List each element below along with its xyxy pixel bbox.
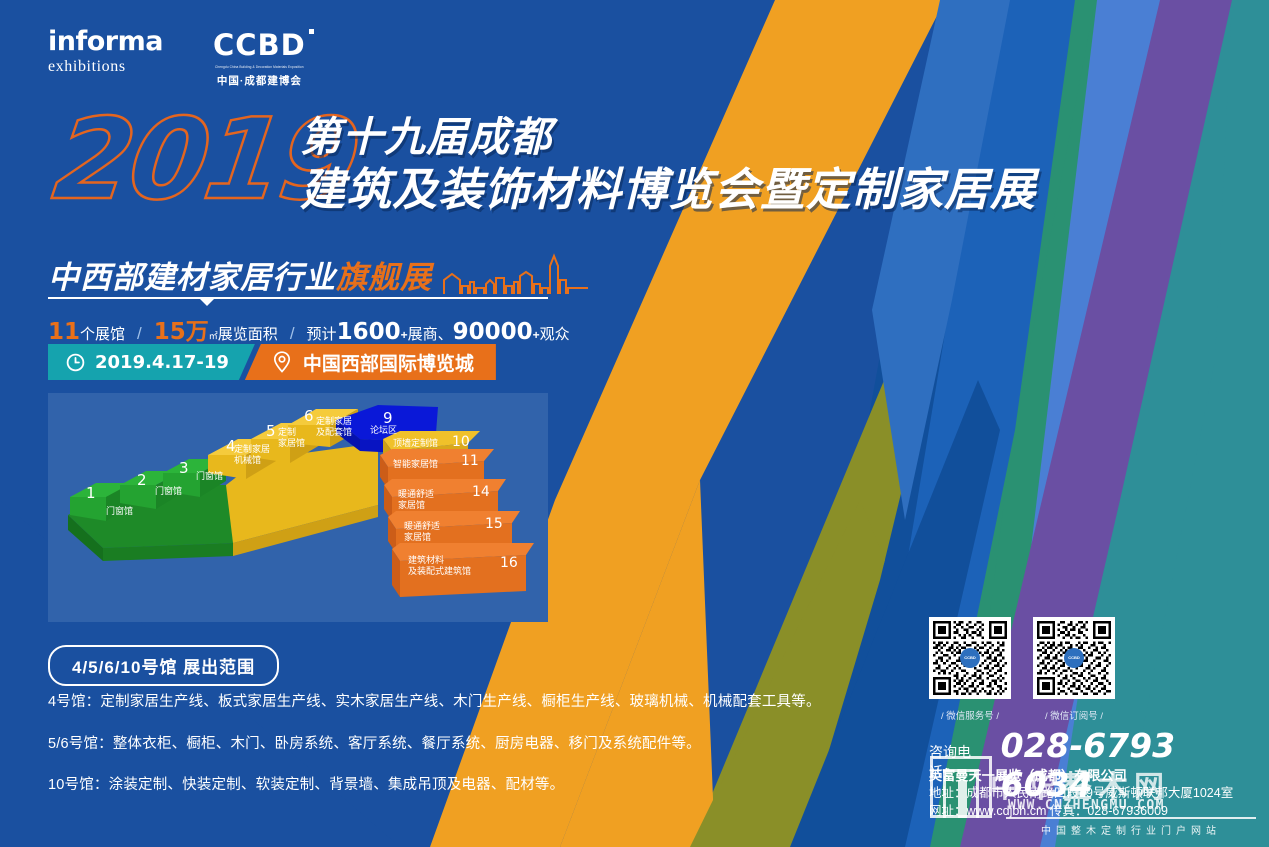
location-pin-icon xyxy=(273,351,291,373)
hall-number-5: 5 xyxy=(266,422,276,440)
stat-exhibitor-sup: + xyxy=(401,328,408,342)
hall-name-4b: 机械馆 xyxy=(234,454,261,466)
ccbd-english: Chengdu China Building & Decoration Mate… xyxy=(213,65,306,70)
hall-name-14b: 家居馆 xyxy=(398,499,425,511)
qr-service-account[interactable]: CCBD xyxy=(929,617,1011,699)
website-line: 网址：www.cdjbh.cm 传真：028-67936009 xyxy=(929,802,1233,820)
qr-captions: / 微信服务号 / / 微信订阅号 / xyxy=(929,708,1115,722)
slogan-white: 中西部建材家居行业 xyxy=(48,252,336,297)
hall-name-15b: 家居馆 xyxy=(404,531,431,543)
stat-visitor-sup: + xyxy=(533,328,540,342)
hall-name-6b: 及配套馆 xyxy=(316,426,352,438)
informa-wordmark: informa xyxy=(48,28,163,55)
hall-name-5b: 家居馆 xyxy=(278,437,305,449)
hall-number-6: 6 xyxy=(304,407,314,425)
venue-text: 中国西部国际博览城 xyxy=(303,349,474,376)
slogan-orange: 旗舰展 xyxy=(336,252,432,297)
stat-halls-unit: 个展馆 xyxy=(80,323,125,344)
stat-area-unit: 展览面积 xyxy=(218,323,278,344)
hall-number-16: 16 xyxy=(500,555,518,571)
stat-exhibitor-unit: 展商、 xyxy=(408,323,453,344)
ccbd-logo: CCBD Chengdu China Building & Decoration… xyxy=(213,28,306,88)
hall-name-11: 智能家居馆 xyxy=(393,458,438,470)
ccbd-dot-icon xyxy=(309,29,314,34)
informa-logo: informa exhibitions xyxy=(48,28,163,75)
date-badge: 2019.4.17-19 xyxy=(48,344,255,380)
address-block: 地址：成都市人民南路四段19号威斯顿联邦大厦1024室 网址：www.cdjbh… xyxy=(929,784,1233,820)
slogan: 中西部建材家居行业 旗舰展 xyxy=(48,252,592,297)
stat-visitor-number: 90000 xyxy=(453,319,533,345)
stat-separator-2: / xyxy=(290,324,295,344)
slogan-divider xyxy=(48,297,548,299)
ccbd-chinese: 中国·成都建博会 xyxy=(213,73,306,88)
venue-badge: 中国西部国际博览城 xyxy=(245,344,496,380)
skyline-icon xyxy=(442,252,592,296)
scope-lines: 4号馆：定制家居生产线、板式家居生产线、实木家居生产线、木门生产线、橱柜生产线、… xyxy=(48,695,821,820)
hall-number-3: 3 xyxy=(179,459,189,477)
hall-name-15: 暖通舒适 xyxy=(404,520,440,532)
qr-service-logo: CCBD xyxy=(960,648,980,668)
qr-service-caption: / 微信服务号 / xyxy=(929,708,1011,722)
hall-name-10: 顶墙定制馆 xyxy=(393,437,438,449)
hall-name-5: 定制 xyxy=(278,426,296,438)
qr-codes: CCBD xyxy=(929,617,1115,699)
hall-name-2: 门窗馆 xyxy=(155,485,182,497)
ccbd-wordmark: CCBD xyxy=(213,28,306,62)
informa-subtitle: exhibitions xyxy=(48,59,163,75)
qr-subscribe-account[interactable]: CCBD xyxy=(1033,617,1115,699)
scope-line-hall10: 10号馆：涂装定制、快装定制、软装定制、背景墙、集成吊顶及电器、配材等。 xyxy=(48,778,821,793)
hall-number-14: 14 xyxy=(472,484,490,500)
stat-exhibitor-number: 1600 xyxy=(337,319,401,345)
stat-separator-1: / xyxy=(137,324,142,344)
stats-row: 11个展馆 / 15万㎡展览面积 / 预计1600+展商、90000+观众 xyxy=(48,312,570,346)
hall-name-9: 论坛区 xyxy=(370,424,397,436)
scope-title-pill: 4/5/6/10号馆 展出范围 xyxy=(48,645,279,686)
stat-visitor-unit: 观众 xyxy=(540,323,570,344)
hall-number-2: 2 xyxy=(137,471,147,489)
hall-name-4: 定制家居 xyxy=(234,443,270,455)
page-title: 第十九届成都 建筑及装饰材料博览会暨定制家居展 xyxy=(300,112,1036,216)
hall-number-10: 10 xyxy=(452,434,470,450)
ccbd-letters: CCBD xyxy=(213,28,306,62)
hall-name-3: 门窗馆 xyxy=(196,470,223,482)
date-text: 2019.4.17-19 xyxy=(95,352,229,373)
poster-root: informa exhibitions CCBD Chengdu China B… xyxy=(0,0,1269,847)
hall-map-panel: 1 2 3 4 5 6 9 10 11 14 15 16 门窗馆 门窗馆 门窗馆… xyxy=(48,393,548,622)
company-name: 英富曼天一展览（成都）有限公司 xyxy=(929,765,1127,784)
hall-name-16b: 及装配式建筑馆 xyxy=(408,565,471,577)
scope-line-hall4: 4号馆：定制家居生产线、板式家居生产线、实木家居生产线、木门生产线、橱柜生产线、… xyxy=(48,695,821,710)
hall-number-9: 9 xyxy=(383,409,393,427)
hall-name-6: 定制家居 xyxy=(316,415,352,427)
hall-name-16: 建筑材料 xyxy=(408,554,444,566)
clock-icon xyxy=(66,353,85,372)
qr-subscribe-caption: / 微信订阅号 / xyxy=(1033,708,1115,722)
address-line: 地址：成都市人民南路四段19号威斯顿联邦大厦1024室 xyxy=(929,784,1233,802)
hall-map: 1 2 3 4 5 6 9 10 11 14 15 16 门窗馆 门窗馆 门窗馆… xyxy=(48,393,548,622)
hall-name-14: 暖通舒适 xyxy=(398,488,434,500)
scope-line-hall56: 5/6号馆：整体衣柜、橱柜、木门、卧房系统、客厅系统、餐厅系统、厨房电器、移门及… xyxy=(48,737,821,752)
stat-exhibitor-prefix: 预计 xyxy=(307,323,337,344)
event-info-bars: 2019.4.17-19 中国西部国际博览城 xyxy=(48,344,496,380)
qr-subscribe-logo: CCBD xyxy=(1064,648,1084,668)
brand-logos: informa exhibitions CCBD Chengdu China B… xyxy=(48,28,306,88)
stat-area-number: 15万 xyxy=(154,312,209,346)
title-line-1: 第十九届成都 xyxy=(300,112,1036,162)
hall-number-11: 11 xyxy=(461,453,479,469)
title-line-2: 建筑及装饰材料博览会暨定制家居展 xyxy=(300,164,1036,216)
stat-area-sup: ㎡ xyxy=(209,329,218,342)
stat-halls-number: 11 xyxy=(48,319,80,345)
hall-number-15: 15 xyxy=(485,516,503,532)
hall-name-1: 门窗馆 xyxy=(106,505,133,517)
hall-number-1: 1 xyxy=(86,484,96,502)
